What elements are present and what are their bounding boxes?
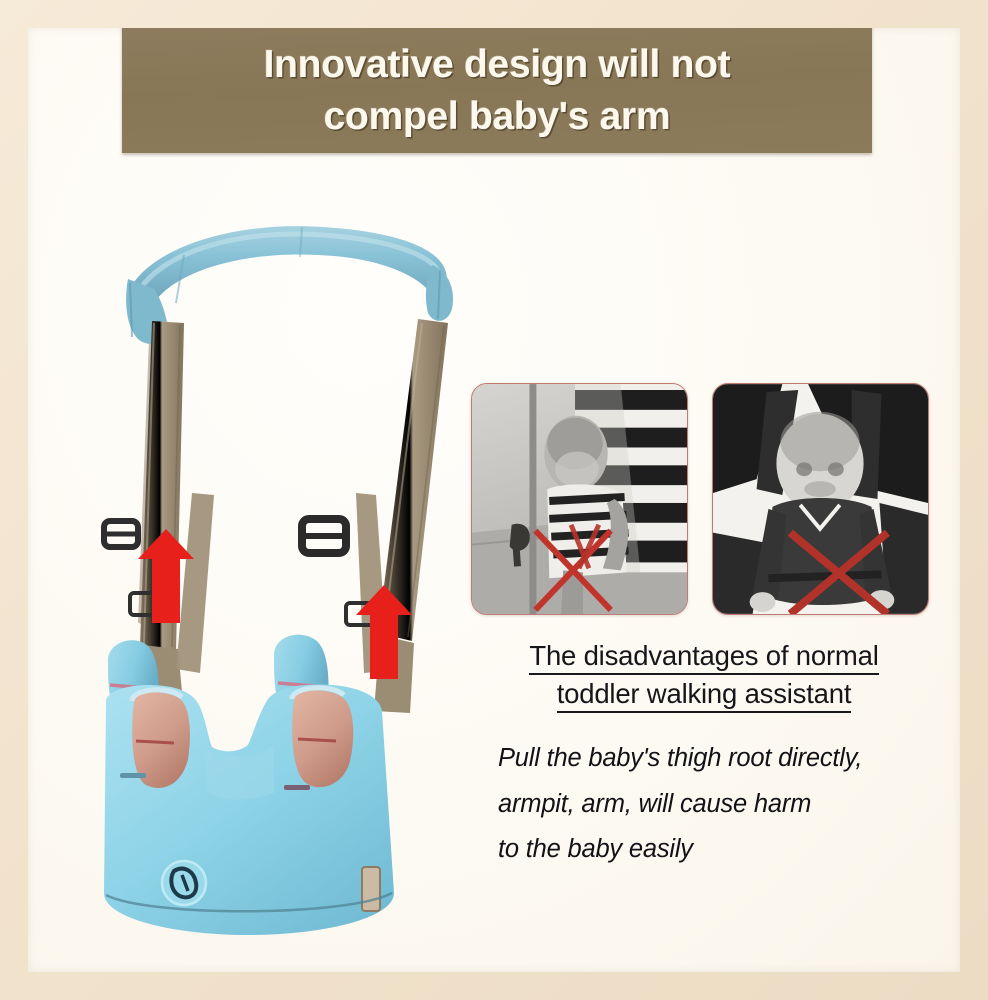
copy-body-line-1: Pull the baby's thigh root directly, bbox=[498, 736, 940, 781]
copy-body: Pull the baby's thigh root directly, arm… bbox=[468, 736, 940, 872]
harness-body bbox=[104, 685, 394, 935]
side-buckle-tab bbox=[362, 867, 380, 911]
left-inner-strap bbox=[176, 493, 214, 673]
product-photo-walking-harness bbox=[88, 193, 478, 953]
copy-body-line-2: armpit, arm, will cause harm bbox=[498, 782, 940, 827]
right-slider-buckle bbox=[302, 519, 346, 553]
copy-heading: The disadvantages of normal toddler walk… bbox=[468, 640, 940, 716]
inset-photo-sweater-baby bbox=[712, 383, 929, 615]
left-slider-buckle bbox=[104, 521, 138, 547]
left-webbing-loop bbox=[120, 773, 146, 778]
inset-photo-striped-baby bbox=[471, 383, 688, 615]
copy-heading-line-2: toddler walking assistant bbox=[557, 678, 852, 713]
poster-canvas: Innovative design will not compel baby's… bbox=[28, 28, 960, 972]
headline-line-1: Innovative design will not bbox=[264, 39, 731, 91]
headline-line-2: compel baby's arm bbox=[324, 91, 671, 143]
brand-logo-badge bbox=[162, 861, 206, 905]
right-webbing-loop bbox=[284, 785, 310, 790]
disadvantages-copy-block: The disadvantages of normal toddler walk… bbox=[468, 640, 940, 872]
product-infographic-poster: Innovative design will not compel baby's… bbox=[0, 0, 988, 1000]
headline-banner: Innovative design will not compel baby's… bbox=[122, 28, 872, 153]
copy-body-line-3: to the baby easily bbox=[498, 827, 940, 872]
copy-heading-line-1: The disadvantages of normal bbox=[529, 640, 878, 675]
